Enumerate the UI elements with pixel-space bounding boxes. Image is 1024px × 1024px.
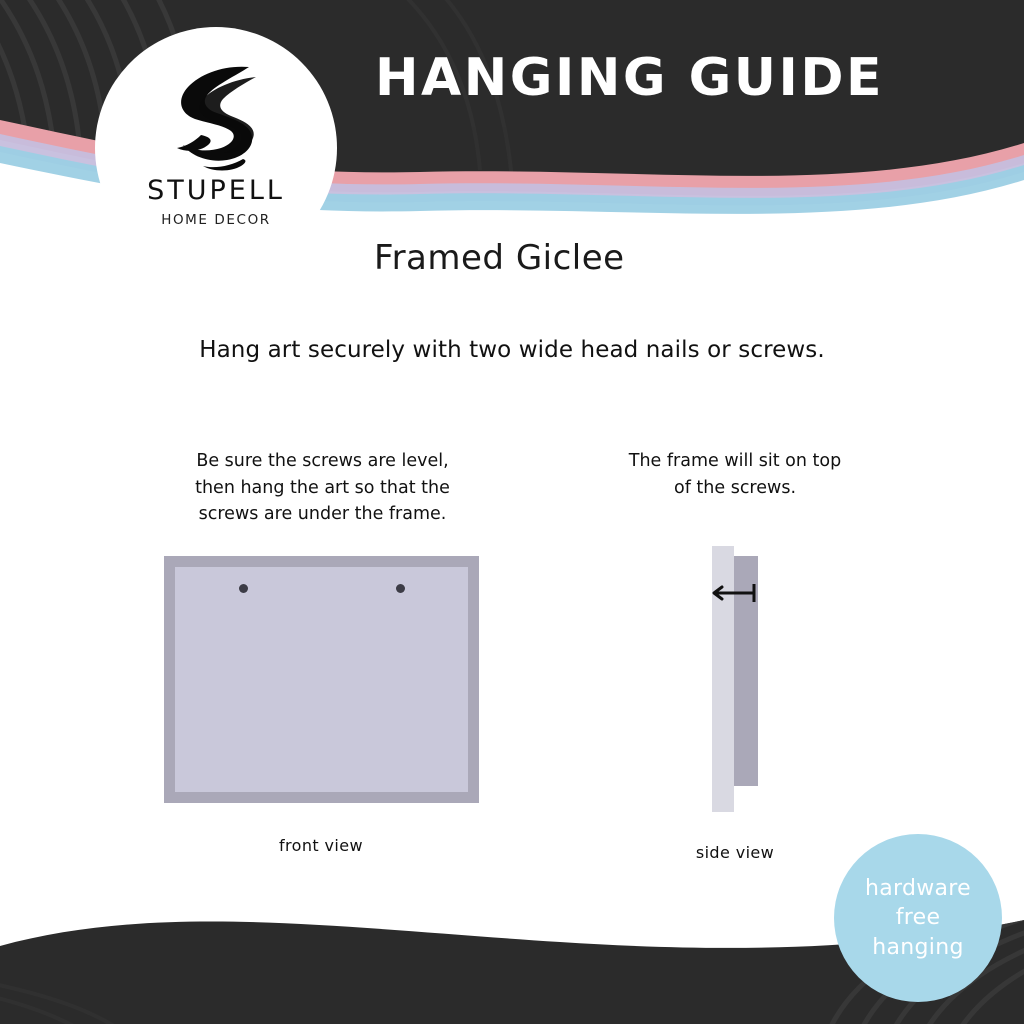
hanging-guide-page: STUPELL HOME DECOR HANGING GUIDE Framed … xyxy=(0,0,1024,1024)
front-caption-line-3: screws are under the frame. xyxy=(145,501,500,528)
brand-subtitle: HOME DECOR xyxy=(161,212,271,228)
side-view-label: side view xyxy=(610,843,860,862)
screw-left-icon xyxy=(239,584,248,593)
side-view-screw-arrow-icon xyxy=(710,578,766,608)
screw-right-icon xyxy=(396,584,405,593)
side-caption-line-2: of the screws. xyxy=(575,475,895,502)
front-view-label: front view xyxy=(185,836,457,855)
side-view-caption: The frame will sit on top of the screws. xyxy=(575,448,895,501)
front-view-frame-inner xyxy=(175,567,468,792)
front-caption-line-1: Be sure the screws are level, xyxy=(145,448,500,475)
page-title: HANGING GUIDE xyxy=(375,48,884,108)
stupell-swirl-logo-icon xyxy=(161,61,271,173)
front-view-caption: Be sure the screws are level, then hang … xyxy=(145,448,500,528)
side-caption-line-1: The frame will sit on top xyxy=(575,448,895,475)
brand-logo: STUPELL HOME DECOR xyxy=(95,27,337,269)
brand-name: STUPELL xyxy=(147,175,285,206)
lead-instruction: Hang art securely with two wide head nai… xyxy=(0,337,1024,363)
badge-line-1: hardware xyxy=(865,874,971,903)
badge-line-3: hanging xyxy=(865,933,971,962)
badge-line-2: free xyxy=(865,903,971,932)
hardware-free-badge: hardware free hanging xyxy=(834,834,1002,1002)
hardware-free-badge-text: hardware free hanging xyxy=(865,874,971,962)
product-type: Framed Giclee xyxy=(374,238,625,278)
front-caption-line-2: then hang the art so that the xyxy=(145,475,500,502)
front-view-frame xyxy=(164,556,479,803)
